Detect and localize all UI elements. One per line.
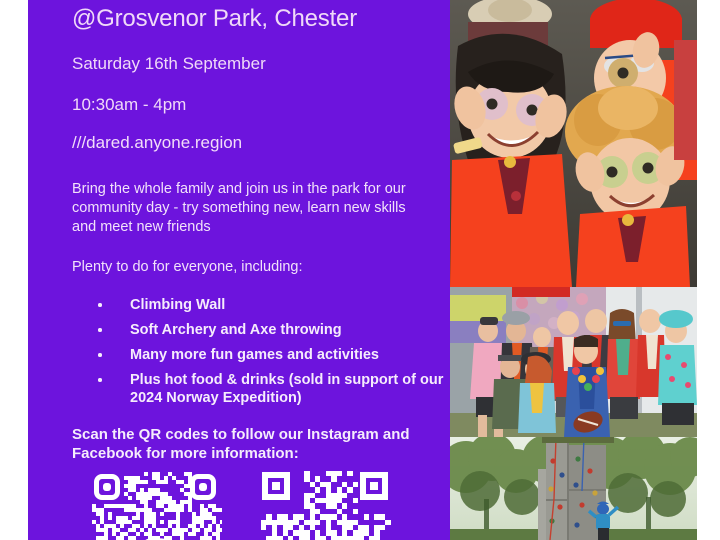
qr-module bbox=[353, 482, 358, 487]
photo-scouts-rings bbox=[450, 0, 697, 287]
qr-module bbox=[353, 498, 358, 503]
event-date: Saturday 16th September bbox=[72, 54, 266, 74]
qr-module bbox=[136, 532, 140, 536]
qr-module bbox=[128, 496, 132, 500]
instagram-qr-code[interactable] bbox=[90, 470, 222, 540]
qr-module bbox=[347, 471, 352, 476]
photo-column bbox=[450, 0, 697, 540]
qr-module bbox=[261, 525, 266, 530]
facebook-qr-code[interactable] bbox=[260, 470, 392, 540]
qr-module bbox=[220, 528, 222, 532]
qr-module bbox=[347, 487, 352, 492]
qr-module bbox=[385, 520, 390, 525]
qr-module bbox=[320, 536, 325, 540]
qr-module bbox=[180, 508, 184, 512]
qr-modules bbox=[90, 470, 222, 540]
qr-module bbox=[160, 512, 164, 516]
qr-module bbox=[380, 525, 385, 530]
list-item: Climbing Wall bbox=[72, 296, 447, 314]
qr-module bbox=[353, 509, 358, 514]
including-label: Plenty to do for everyone, including: bbox=[72, 259, 303, 275]
activity-label: Climbing Wall bbox=[130, 297, 225, 313]
qr-module bbox=[144, 472, 148, 476]
bullet-icon bbox=[98, 378, 102, 382]
qr-module bbox=[374, 536, 379, 540]
qr-module bbox=[164, 528, 168, 532]
activity-list: Climbing Wall Soft Archery and Axe throw… bbox=[72, 296, 447, 414]
activity-label: Soft Archery and Axe throwing bbox=[130, 322, 342, 338]
qr-finder-icon bbox=[94, 474, 120, 500]
qr-finder-icon bbox=[262, 472, 290, 500]
qr-module bbox=[220, 508, 222, 512]
qr-module bbox=[188, 484, 192, 488]
qr-module bbox=[288, 536, 293, 540]
qr-module bbox=[331, 476, 336, 481]
qr-module bbox=[144, 480, 148, 484]
activity-label: Many more fun games and activities bbox=[130, 347, 379, 363]
qr-module bbox=[337, 471, 342, 476]
event-poster: @Grosvenor Park, Chester Saturday 16th S… bbox=[0, 0, 720, 540]
activity-label: Plus hot food & drinks (sold in support … bbox=[130, 372, 443, 406]
qr-module bbox=[136, 516, 140, 520]
qr-module bbox=[160, 520, 164, 524]
bullet-icon bbox=[98, 303, 102, 307]
bullet-icon bbox=[98, 328, 102, 332]
qr-module bbox=[315, 487, 320, 492]
qr-modules bbox=[260, 470, 392, 540]
qr-finder-icon bbox=[190, 474, 216, 500]
list-item: Many more fun games and activities bbox=[72, 346, 447, 364]
venue-heading: @Grosvenor Park, Chester bbox=[72, 5, 357, 33]
qr-module bbox=[220, 520, 222, 524]
qr-module bbox=[364, 514, 369, 519]
qr-module bbox=[164, 480, 168, 484]
qr-module bbox=[120, 524, 124, 528]
qr-module bbox=[304, 536, 309, 540]
bullet-icon bbox=[98, 353, 102, 357]
intro-paragraph: Bring the whole family and join us in th… bbox=[72, 180, 432, 237]
what3words-location: ///dared.anyone.region bbox=[72, 133, 242, 153]
qr-module bbox=[108, 516, 112, 520]
qr-module bbox=[192, 532, 196, 536]
qr-module bbox=[342, 503, 347, 508]
qr-module bbox=[148, 496, 152, 500]
event-time: 10:30am - 4pm bbox=[72, 95, 186, 115]
qr-module bbox=[315, 520, 320, 525]
photo-group-festival bbox=[450, 287, 697, 437]
qr-module bbox=[277, 536, 282, 540]
list-item: Plus hot food & drinks (sold in support … bbox=[72, 371, 447, 407]
info-panel: @Grosvenor Park, Chester Saturday 16th S… bbox=[28, 0, 450, 540]
qr-module bbox=[358, 536, 363, 540]
qr-module bbox=[342, 493, 347, 498]
qr-module bbox=[196, 528, 200, 532]
photo-climbing-wall bbox=[450, 437, 697, 540]
qr-finder-icon bbox=[360, 472, 388, 500]
list-item: Soft Archery and Axe throwing bbox=[72, 321, 447, 339]
scan-instruction: Scan the QR codes to follow our Instagra… bbox=[72, 425, 450, 463]
